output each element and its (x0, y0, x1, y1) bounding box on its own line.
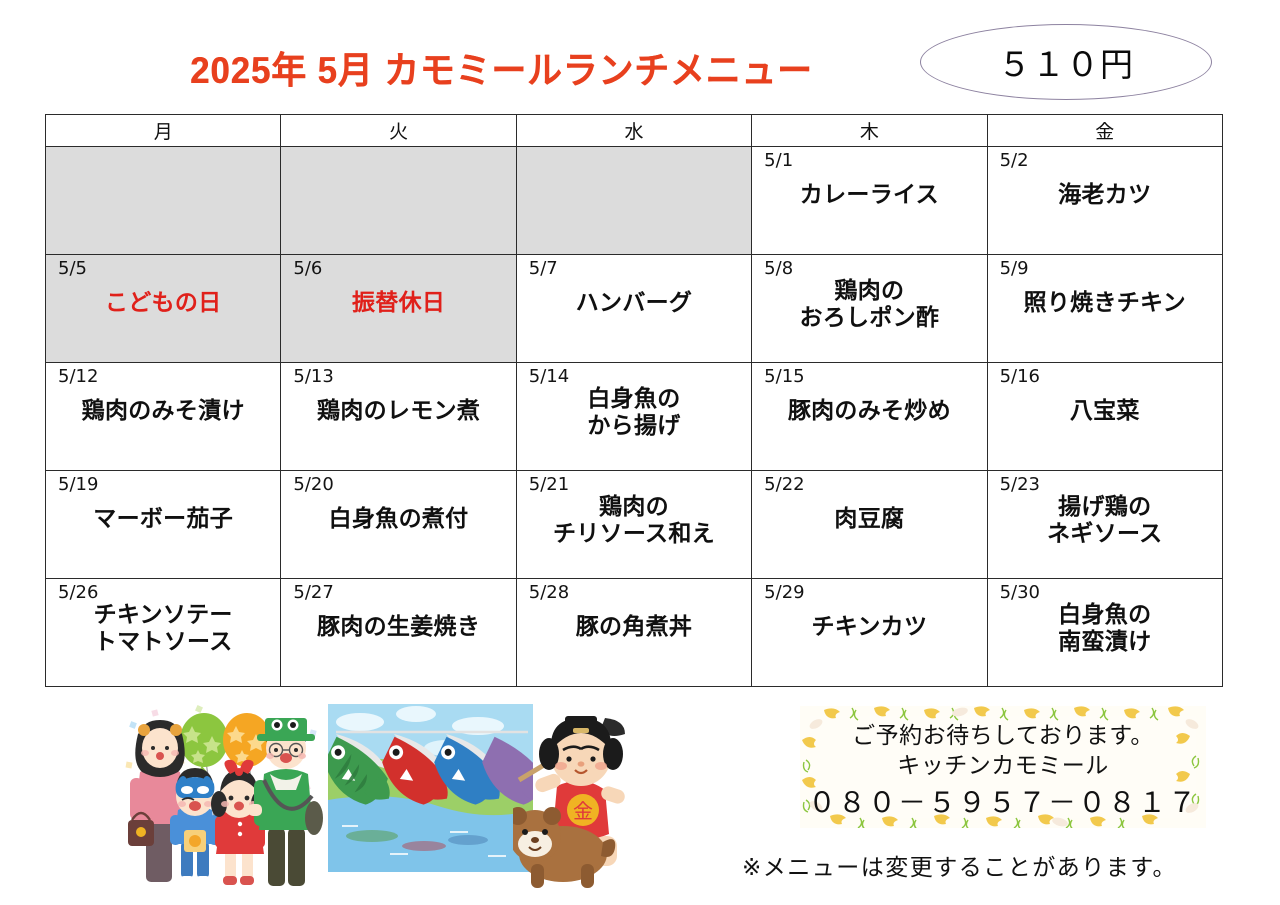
calendar-cell-5-6: 5/6振替休日 (281, 255, 516, 363)
calendar-cell-5-27: 5/27豚肉の生姜焼き (281, 579, 516, 687)
cell-menu-item: 鶏肉のおろしポン酢 (752, 277, 986, 331)
calendar-week-row: 5/1カレーライス5/2海老カツ (46, 147, 1223, 255)
calendar-week-row: 5/5こどもの日5/6振替休日5/7ハンバーグ5/8鶏肉のおろしポン酢5/9照り… (46, 255, 1223, 363)
cell-date: 5/27 (293, 582, 333, 603)
calendar-cell-5-16: 5/16八宝菜 (987, 363, 1222, 471)
cell-menu-item: チキンソテートマトソース (46, 601, 280, 655)
cell-menu-item: 白身魚の煮付 (281, 505, 515, 532)
cell-holiday-label: こどもの日 (46, 289, 280, 316)
cell-menu-item: カレーライス (752, 181, 986, 208)
column-header-wed: 水 (516, 115, 751, 147)
cell-date: 5/14 (529, 366, 569, 387)
reservation-line-1: ご予約お待ちしております。 (806, 720, 1200, 750)
family-illustration (118, 700, 333, 896)
cell-menu-item: 揚げ鶏のネギソース (988, 493, 1222, 547)
cell-holiday-label: 振替休日 (281, 289, 515, 316)
kintaro-and-bear-illustration: 金 (513, 714, 638, 894)
cell-date: 5/16 (1000, 366, 1040, 387)
cell-menu-item: マーボー茄子 (46, 505, 280, 532)
calendar-week-row: 5/26チキンソテートマトソース5/27豚肉の生姜焼き5/28豚の角煮丼5/29… (46, 579, 1223, 687)
calendar-week-row: 5/19マーボー茄子5/20白身魚の煮付5/21鶏肉のチリソース和え5/22肉豆… (46, 471, 1223, 579)
calendar-cell-5-26: 5/26チキンソテートマトソース (46, 579, 281, 687)
calendar-cell-empty (281, 147, 516, 255)
cell-menu-item: 豚肉のみそ炒め (752, 397, 986, 424)
cell-date: 5/19 (58, 474, 98, 495)
koinobori-scene-illustration (328, 704, 533, 872)
reservation-text-block: ご予約お待ちしております。 キッチンカモミール ０８０－５９５７－０８１７ (806, 720, 1200, 821)
calendar-header-row: 月 火 水 木 金 (46, 115, 1223, 147)
column-header-mon: 月 (46, 115, 281, 147)
calendar-cell-5-13: 5/13鶏肉のレモン煮 (281, 363, 516, 471)
cell-date: 5/21 (529, 474, 569, 495)
cell-date: 5/2 (1000, 150, 1029, 171)
poster-header: 2025年 5月 カモミールランチメニュー ５１０円 (0, 0, 1280, 112)
cell-date: 5/8 (764, 258, 793, 279)
boy-figure (170, 768, 220, 885)
cell-date: 5/1 (764, 150, 793, 171)
menu-change-note: ※メニューは変更することがあります。 (742, 848, 1222, 882)
cell-date: 5/20 (293, 474, 333, 495)
calendar-cell-5-22: 5/22肉豆腐 (752, 471, 987, 579)
cell-menu-item: 肉豆腐 (752, 505, 986, 532)
calendar-cell-5-19: 5/19マーボー茄子 (46, 471, 281, 579)
calendar-cell-5-14: 5/14白身魚のから揚げ (516, 363, 751, 471)
cell-date: 5/5 (58, 258, 87, 279)
calendar-table: 月 火 水 木 金 5/1カレーライス5/2海老カツ5/5こどもの日5/6振替休… (45, 114, 1223, 687)
cell-date: 5/12 (58, 366, 98, 387)
cell-menu-item: 豚の角煮丼 (517, 613, 751, 640)
cell-menu-item: 白身魚のから揚げ (517, 385, 751, 439)
cell-date: 5/29 (764, 582, 804, 603)
cell-date: 5/26 (58, 582, 98, 603)
column-header-thu: 木 (752, 115, 987, 147)
calendar-cell-5-1: 5/1カレーライス (752, 147, 987, 255)
menu-poster: 2025年 5月 カモミールランチメニュー ５１０円 月 火 水 木 金 5/1… (0, 0, 1280, 905)
calendar-week-row: 5/12鶏肉のみそ漬け5/13鶏肉のレモン煮5/14白身魚のから揚げ5/15豚肉… (46, 363, 1223, 471)
column-header-tue: 火 (281, 115, 516, 147)
cell-menu-item: 白身魚の南蛮漬け (988, 601, 1222, 655)
cell-menu-item: 鶏肉のチリソース和え (517, 493, 751, 547)
cell-date: 5/23 (1000, 474, 1040, 495)
menu-calendar: 月 火 水 木 金 5/1カレーライス5/2海老カツ5/5こどもの日5/6振替休… (45, 114, 1223, 687)
price-badge: ５１０円 (920, 24, 1212, 100)
calendar-cell-5-29: 5/29チキンカツ (752, 579, 987, 687)
calendar-cell-5-21: 5/21鶏肉のチリソース和え (516, 471, 751, 579)
price-label: ５１０円 (998, 38, 1134, 86)
cell-date: 5/15 (764, 366, 804, 387)
calendar-cell-empty (516, 147, 751, 255)
calendar-cell-5-30: 5/30白身魚の南蛮漬け (987, 579, 1222, 687)
column-header-fri: 金 (987, 115, 1222, 147)
cell-menu-item: 八宝菜 (988, 397, 1222, 424)
calendar-body: 5/1カレーライス5/2海老カツ5/5こどもの日5/6振替休日5/7ハンバーグ5… (46, 147, 1223, 687)
cell-menu-item: チキンカツ (752, 613, 986, 640)
phone-number: ０８０－５９５７－０８１７ (806, 781, 1200, 821)
cell-menu-item: ハンバーグ (517, 289, 751, 316)
calendar-cell-5-23: 5/23揚げ鶏のネギソース (987, 471, 1222, 579)
cell-menu-item: 海老カツ (988, 181, 1222, 208)
cell-date: 5/30 (1000, 582, 1040, 603)
calendar-cell-5-9: 5/9照り焼きチキン (987, 255, 1222, 363)
cell-menu-item: 鶏肉のレモン煮 (281, 397, 515, 424)
calendar-cell-5-15: 5/15豚肉のみそ炒め (752, 363, 987, 471)
illustration-group: 金 (118, 694, 638, 899)
cell-date: 5/28 (529, 582, 569, 603)
page-title: 2025年 5月 カモミールランチメニュー (190, 40, 813, 94)
cell-date: 5/7 (529, 258, 558, 279)
cell-menu-item: 鶏肉のみそ漬け (46, 397, 280, 424)
cell-date: 5/9 (1000, 258, 1029, 279)
calendar-cell-5-2: 5/2海老カツ (987, 147, 1222, 255)
calendar-cell-5-28: 5/28豚の角煮丼 (516, 579, 751, 687)
calendar-cell-5-12: 5/12鶏肉のみそ漬け (46, 363, 281, 471)
calendar-cell-5-20: 5/20白身魚の煮付 (281, 471, 516, 579)
cell-date: 5/13 (293, 366, 333, 387)
cell-date: 5/6 (293, 258, 322, 279)
calendar-cell-5-5: 5/5こどもの日 (46, 255, 281, 363)
svg-text:金: 金 (573, 799, 593, 823)
cell-menu-item: 豚肉の生姜焼き (281, 613, 515, 640)
calendar-cell-empty (46, 147, 281, 255)
calendar-cell-5-7: 5/7ハンバーグ (516, 255, 751, 363)
cell-menu-item: 照り焼きチキン (988, 289, 1222, 316)
cell-date: 5/22 (764, 474, 804, 495)
calendar-cell-5-8: 5/8鶏肉のおろしポン酢 (752, 255, 987, 363)
shop-name: キッチンカモミール (806, 750, 1200, 780)
